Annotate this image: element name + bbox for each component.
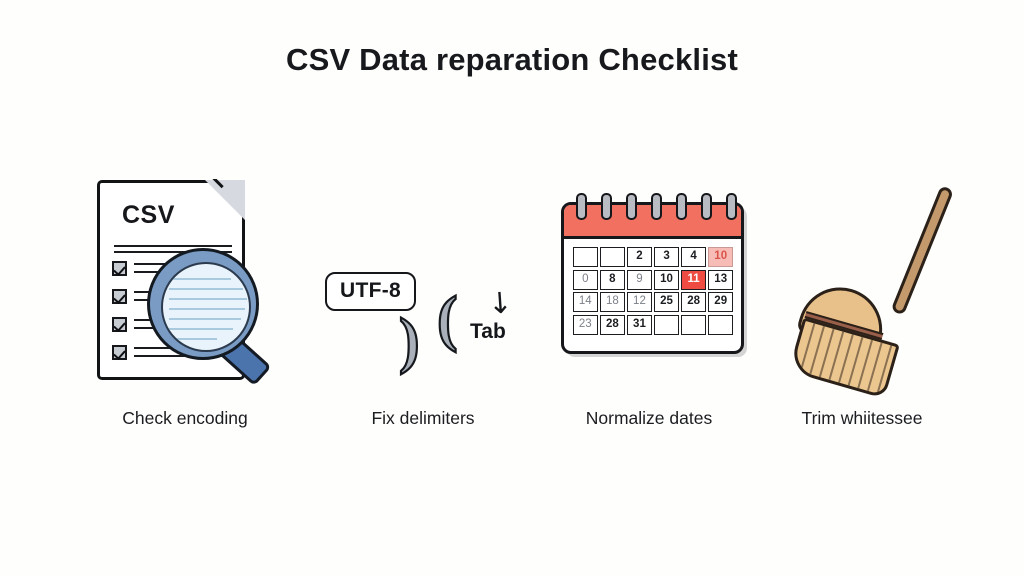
delimiter-glyph-icon: ) xyxy=(399,310,420,372)
calendar-ring xyxy=(651,193,662,220)
tab-arrow-icon: ↓ xyxy=(487,285,514,321)
calendar-date-cell: 11 xyxy=(681,270,706,290)
page-fold-edge xyxy=(188,179,246,237)
calendar-date-cell: 8 xyxy=(600,270,625,290)
calendar-date-cell xyxy=(681,315,706,335)
magnifier-rim xyxy=(147,248,259,360)
calendar-date-cell: 9 xyxy=(627,270,652,290)
calendar-date-cell: 2 xyxy=(627,247,652,267)
magnifier-lens xyxy=(161,262,251,352)
utf8-badge: UTF-8 xyxy=(325,272,416,311)
step-caption-trim-whitespace: Trim whiitessee xyxy=(752,408,972,429)
calendar-date-cell: 28 xyxy=(600,315,625,335)
checklist-step-check-encoding: CSV xyxy=(75,160,295,460)
calendar-ring xyxy=(626,193,637,220)
calendar-date-cell xyxy=(708,315,733,335)
calendar-ring xyxy=(676,193,687,220)
calendar-date-cell: 25 xyxy=(654,292,679,312)
calendar-ring xyxy=(576,193,587,220)
calendar-ring xyxy=(701,193,712,220)
calendar-date-cell xyxy=(573,247,598,267)
broom-graphic xyxy=(762,170,962,385)
calendar-date-cell: 14 xyxy=(573,292,598,312)
calendar-date-cell: 4 xyxy=(681,247,706,267)
calendar-date-cell xyxy=(654,315,679,335)
delimiter-glyph-icon: ) xyxy=(437,288,458,350)
calendar-date-cell: 3 xyxy=(654,247,679,267)
checkbox-checked-icon xyxy=(112,317,127,332)
checkbox-checked-icon xyxy=(112,261,127,276)
illustration-canvas: CSV Data reparation Checklist CSV xyxy=(0,0,1024,576)
calendar-ring xyxy=(726,193,737,220)
checklist-step-fix-delimiters: UTF-8 ) ) ↓ Tab Fix delimiters xyxy=(313,160,533,460)
checklist-step-trim-whitespace: Trim whiitessee xyxy=(752,160,972,460)
encoding-delimiter-icon: UTF-8 ) ) ↓ Tab xyxy=(313,160,533,390)
calendar-ring xyxy=(601,193,612,220)
csv-document-label: CSV xyxy=(122,201,175,230)
calendar-date-grid: 23410089101113141812252829232831 xyxy=(573,247,733,335)
magnifying-glass-icon xyxy=(147,248,269,370)
calendar-date-cell: 12 xyxy=(627,292,652,312)
step-caption-fix-delimiters: Fix delimiters xyxy=(313,408,533,429)
calendar-date-cell: 28 xyxy=(681,292,706,312)
calendar-body: 23410089101113141812252829232831 xyxy=(561,202,744,354)
calendar-date-cell: 10 xyxy=(654,270,679,290)
checklist-step-normalize-dates: 23410089101113141812252829232831 Normali… xyxy=(539,160,759,460)
document-rule xyxy=(114,245,232,247)
step-caption-normalize-dates: Normalize dates xyxy=(539,408,759,429)
calendar-date-cell: 31 xyxy=(627,315,652,335)
calendar-date-cell: 29 xyxy=(708,292,733,312)
checkbox-checked-icon xyxy=(112,345,127,360)
broom-bristles xyxy=(788,317,900,398)
calendar-date-cell: 0 xyxy=(573,270,598,290)
calendar-date-cell: 23 xyxy=(573,315,598,335)
broom-handle xyxy=(891,185,955,315)
calendar-icon: 23410089101113141812252829232831 xyxy=(539,160,759,390)
tab-label: Tab xyxy=(470,320,506,344)
page-title: CSV Data reparation Checklist xyxy=(0,42,1024,78)
calendar-date-cell: 13 xyxy=(708,270,733,290)
calendar-date-cell: 10 xyxy=(708,247,733,267)
broom-icon xyxy=(752,160,972,390)
calendar-date-cell xyxy=(600,247,625,267)
step-caption-check-encoding: Check encoding xyxy=(75,408,295,429)
calendar-date-cell: 18 xyxy=(600,292,625,312)
checkbox-checked-icon xyxy=(112,289,127,304)
csv-document-magnifier-icon: CSV xyxy=(75,160,295,390)
